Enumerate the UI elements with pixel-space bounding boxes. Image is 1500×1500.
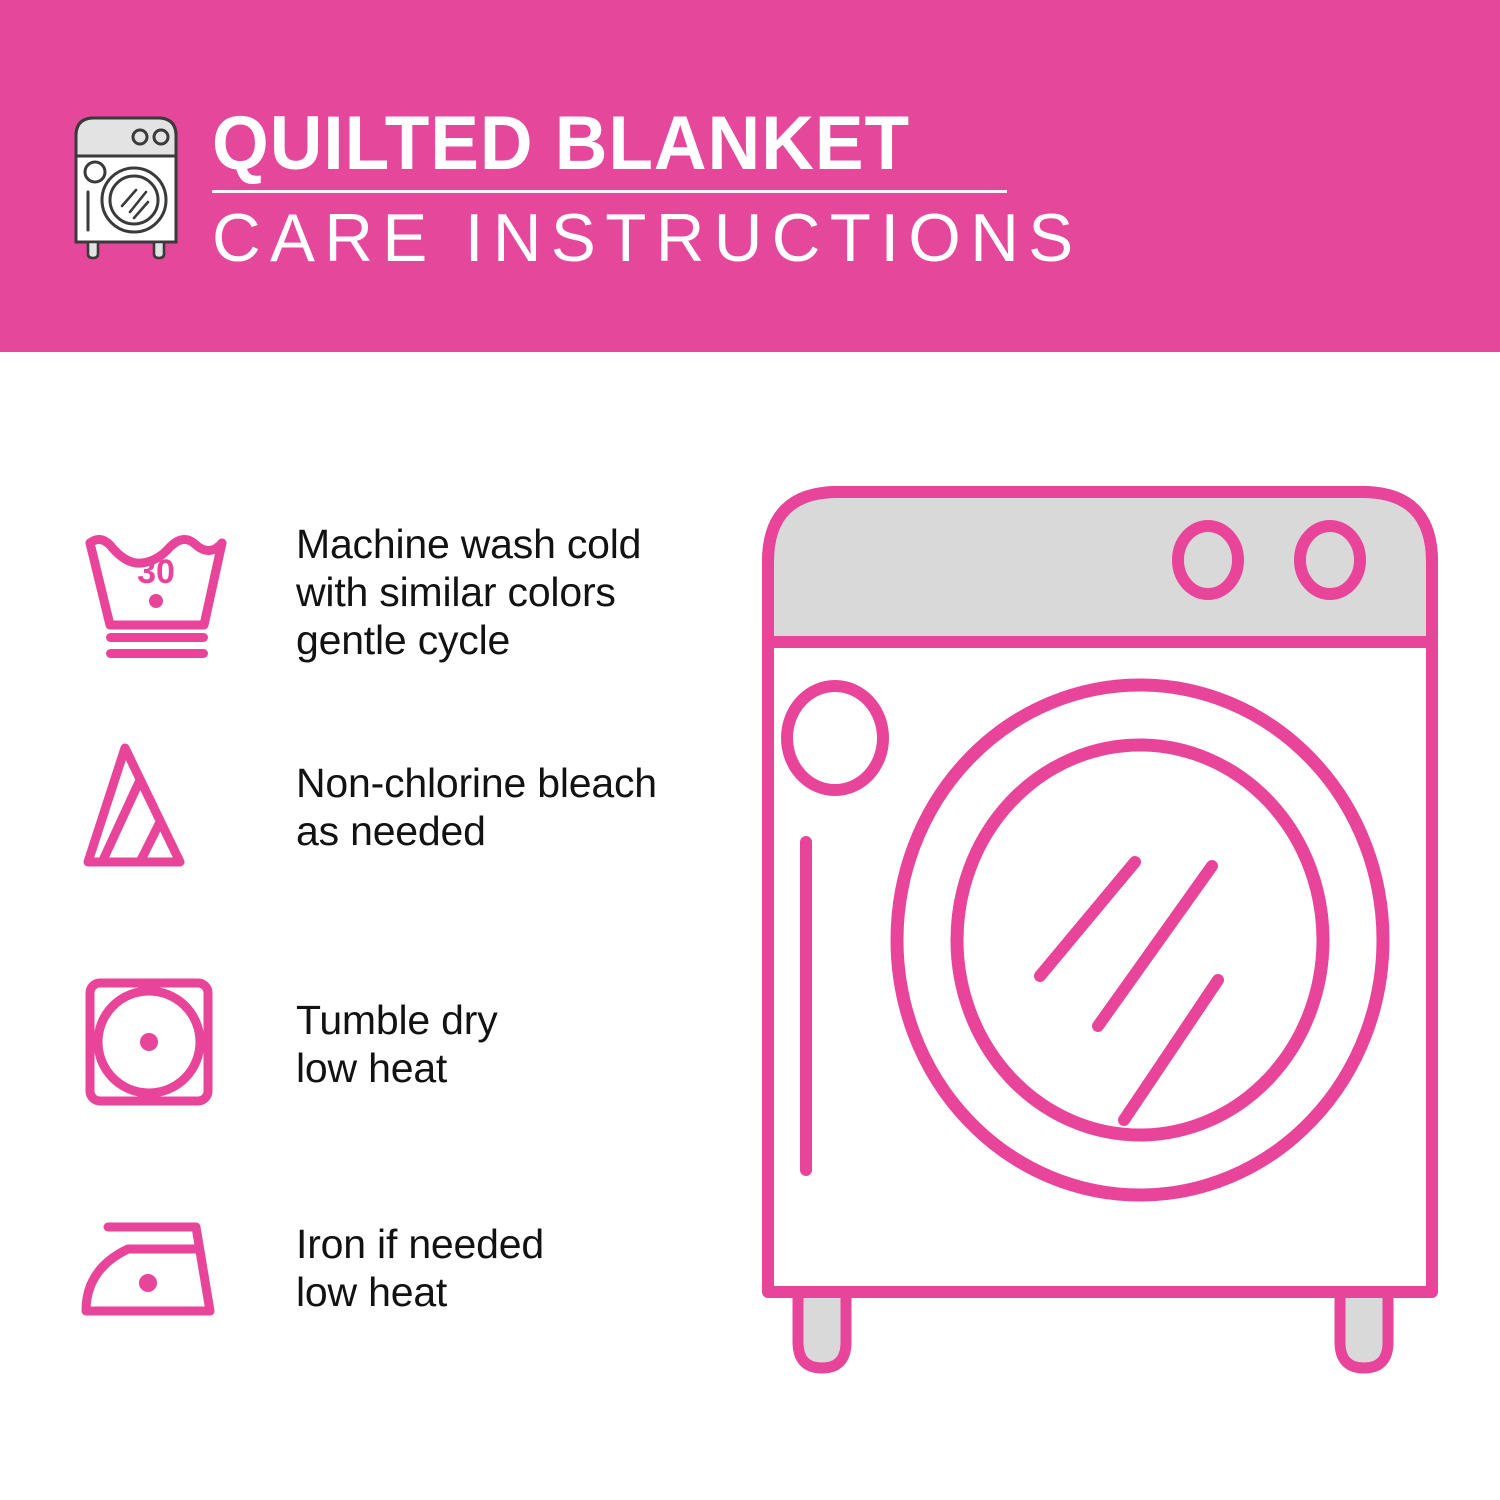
title-divider: [212, 190, 1007, 193]
wash-temperature-label: 30: [137, 553, 175, 591]
washing-machine-illustration: [740, 470, 1460, 1420]
machine-control-panel: [768, 492, 1432, 642]
tumble-dry-icon: [62, 964, 262, 1124]
header-text-block: QUILTED BLANKET CARE INSTRUCTIONS: [212, 104, 1032, 275]
care-instructions-page: QUILTED BLANKET CARE INSTRUCTIONS 30: [0, 0, 1500, 1500]
care-row-machine-wash: 30 Machine wash cold with similar colors…: [0, 502, 740, 682]
page-title: QUILTED BLANKET: [212, 104, 999, 184]
care-row-iron: Iron if needed low heat: [0, 1188, 740, 1348]
iron-icon: [62, 1188, 262, 1348]
care-text-tumble-dry: Tumble dry low heat: [296, 996, 498, 1092]
care-text-bleach: Non-chlorine bleach as needed: [296, 759, 657, 855]
care-text-machine-wash: Machine wash cold with similar colors ge…: [296, 520, 641, 664]
care-row-bleach: Non-chlorine bleach as needed: [0, 722, 740, 892]
page-subtitle: CARE INSTRUCTIONS: [212, 201, 1024, 275]
wash-tub-30-icon: 30: [62, 512, 262, 672]
care-symbol-list: 30 Machine wash cold with similar colors…: [0, 352, 740, 1500]
header-banner: QUILTED BLANKET CARE INSTRUCTIONS: [0, 0, 1500, 352]
care-text-iron: Iron if needed low heat: [296, 1220, 544, 1316]
washing-machine-icon: [62, 108, 190, 260]
care-row-tumble-dry: Tumble dry low heat: [0, 964, 740, 1124]
bleach-triangle-icon: [62, 727, 262, 887]
